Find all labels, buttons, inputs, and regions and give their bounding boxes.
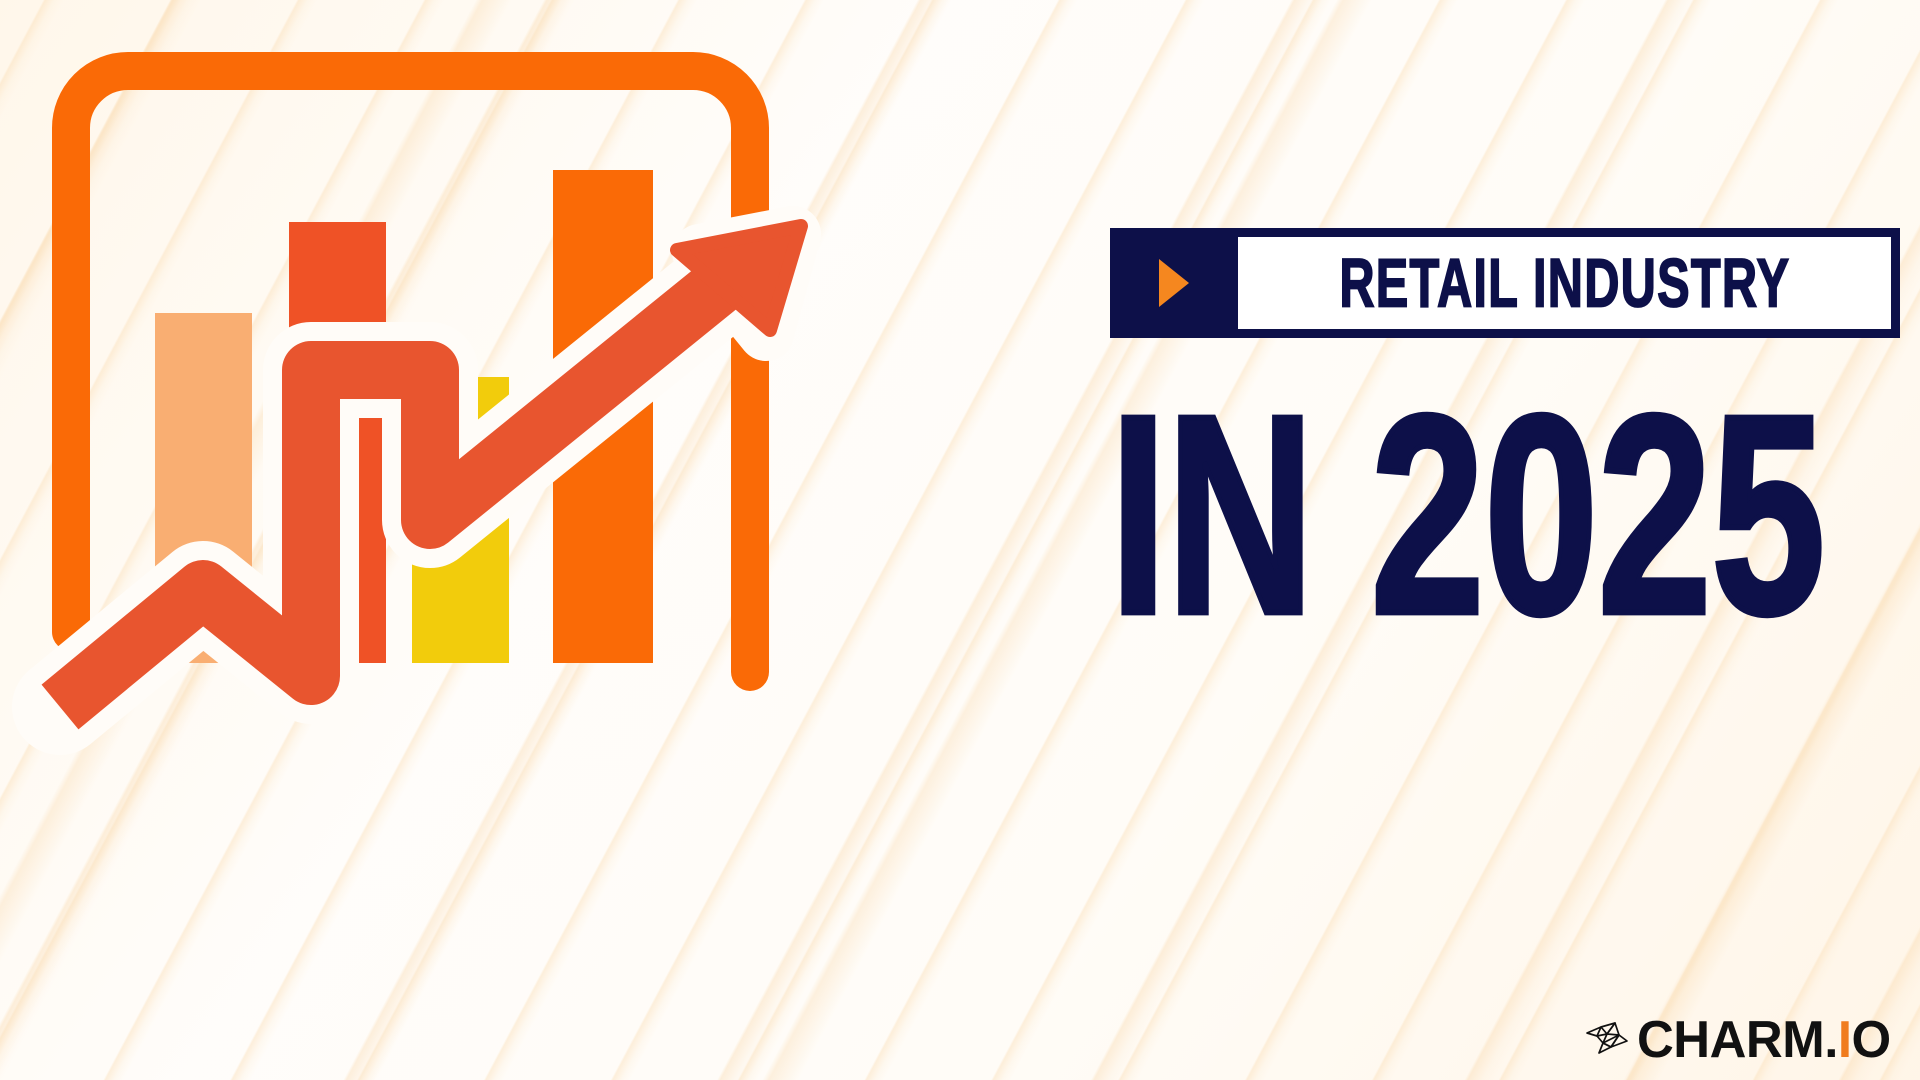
brand-name-main: CHARM. bbox=[1637, 1011, 1838, 1069]
badge-text-cell: RETAIL INDUSTRY bbox=[1238, 237, 1891, 329]
brand-wordmark: CHARM.IO bbox=[1637, 1014, 1891, 1066]
headline-block: RETAIL INDUSTRY IN 2025 bbox=[1110, 228, 1900, 594]
category-badge: RETAIL INDUSTRY bbox=[1110, 228, 1900, 338]
play-triangle-icon bbox=[1159, 259, 1189, 307]
brand-name-tail: O bbox=[1852, 1011, 1891, 1069]
brand-logo[interactable]: CHARM.IO bbox=[1585, 1014, 1896, 1066]
brand-name-accent: I bbox=[1838, 1011, 1852, 1069]
badge-icon-cell bbox=[1110, 228, 1238, 338]
page-title: IN 2025 bbox=[1110, 394, 1805, 637]
category-badge-label: RETAIL INDUSTRY bbox=[1339, 249, 1790, 317]
bar-chart-graphic bbox=[0, 0, 900, 1010]
origami-hummingbird-icon bbox=[1585, 1020, 1629, 1060]
poster-canvas: RETAIL INDUSTRY IN 2025 CHARM.IO bbox=[0, 0, 1920, 1080]
